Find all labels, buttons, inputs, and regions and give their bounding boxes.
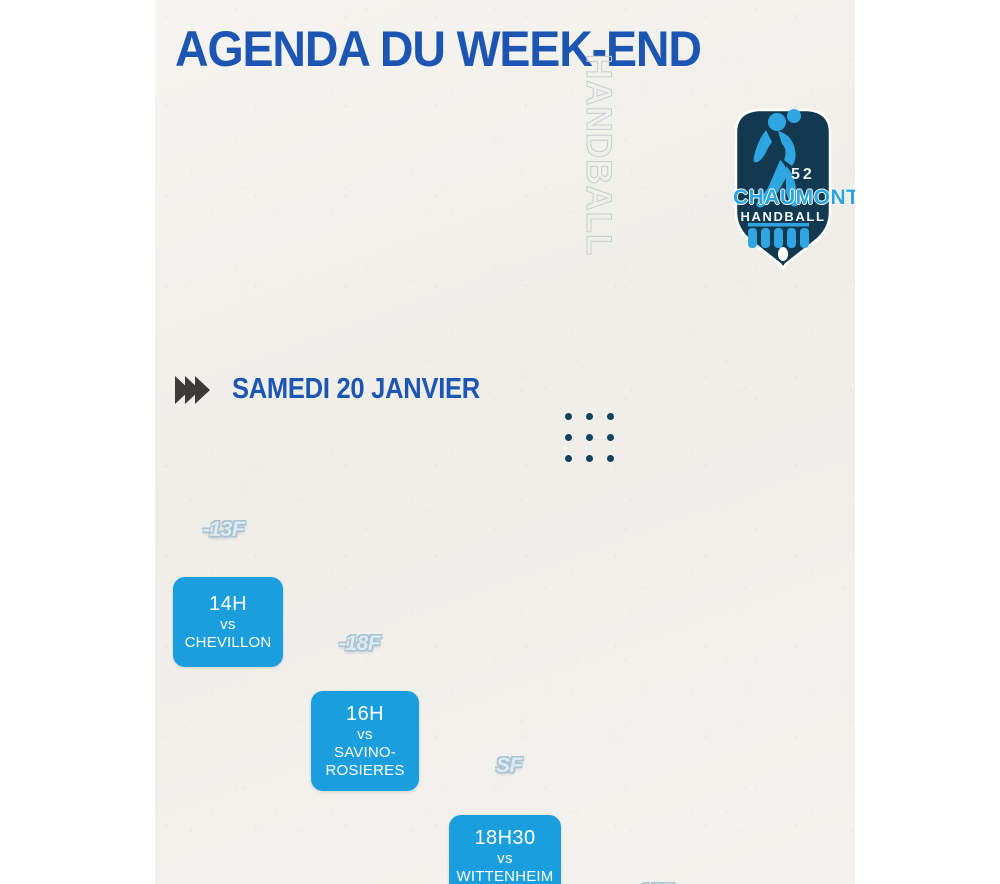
match-time: 18H30 [475, 827, 536, 851]
dot-grid-top [565, 413, 855, 462]
match-separator: vs [220, 616, 236, 634]
category-label: SF [496, 754, 855, 778]
match-opponent-2: ROSIERES [325, 762, 404, 780]
match-time: 16H [346, 703, 384, 727]
match-separator: vs [497, 850, 513, 868]
match-card[interactable]: 18H30 vs WITTENHEIM ENSISHEIM [449, 815, 561, 884]
match-time: 14H [209, 593, 247, 617]
match-separator: vs [357, 726, 373, 744]
page-title: AGENDA DU WEEK-END [175, 20, 621, 78]
crest-club-sub: HANDBALL [733, 209, 833, 224]
match-opponent: WITTENHEIM [457, 868, 554, 884]
match-opponent: CHEVILLON [185, 634, 272, 652]
chevrons-icon [175, 376, 210, 404]
crest-number: 52 [791, 166, 815, 184]
ball-icon [787, 109, 801, 123]
vertical-handball-text: HANDBALL [576, 54, 618, 234]
club-crest: 52 CHAUMONT HANDBALL [728, 104, 838, 272]
match-card[interactable]: 14H vs CHEVILLON [173, 577, 283, 667]
category-label: -18F [339, 632, 855, 656]
crest-club-name: CHAUMONT [733, 186, 833, 210]
match-card[interactable]: 16H vs SAVINO- ROSIERES [311, 691, 419, 791]
day-header-saturday: SAMEDI 20 JANVIER [175, 373, 855, 406]
category-label: -13F [203, 518, 855, 542]
poster-canvas: AGENDA DU WEEK-END HANDBALL [155, 0, 855, 884]
screenshot-root: AGENDA DU WEEK-END HANDBALL [0, 0, 1000, 884]
category-label: -15F [632, 880, 855, 884]
match-opponent: SAVINO- [334, 744, 396, 762]
day-label-saturday: SAMEDI 20 JANVIER [232, 373, 480, 406]
